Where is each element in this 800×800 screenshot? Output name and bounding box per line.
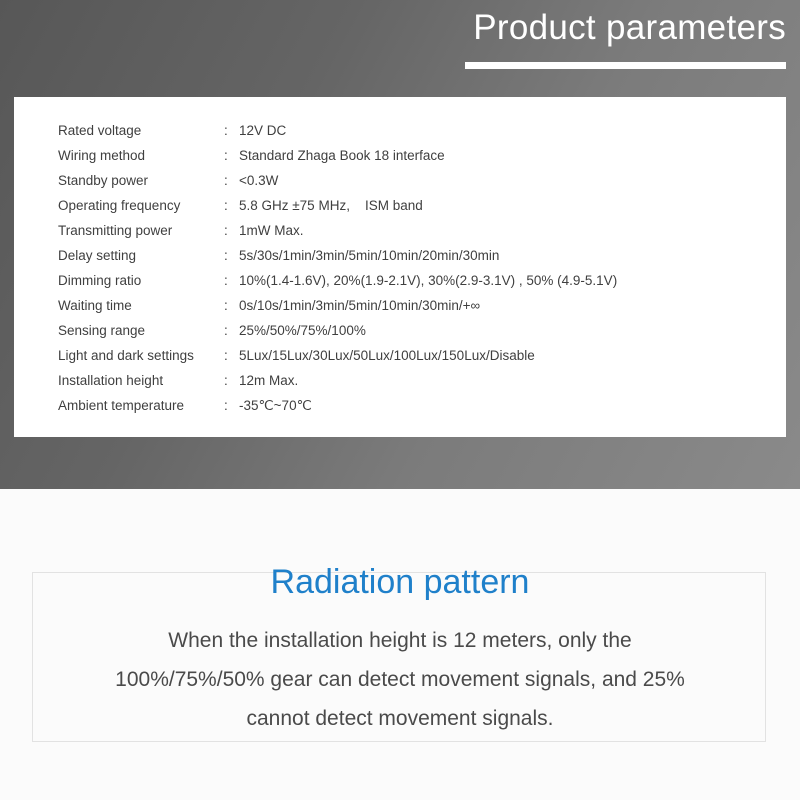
param-value: 5.8 GHz ±75 MHz, ISM band <box>238 193 617 218</box>
param-value: -35℃~70℃ <box>238 393 617 418</box>
page-title: Product parameters <box>473 6 786 50</box>
radiation-description-line: cannot detect movement signals. <box>60 699 740 738</box>
param-value: 10%(1.4-1.6V), 20%(1.9-2.1V), 30%(2.9-3.… <box>238 268 617 293</box>
param-label: Wiring method <box>58 143 224 168</box>
table-row: Rated voltage : 12V DC <box>58 118 617 143</box>
param-separator: : <box>224 268 238 293</box>
table-row: Wiring method : Standard Zhaga Book 18 i… <box>58 143 617 168</box>
table-row: Operating frequency : 5.8 GHz ±75 MHz, I… <box>58 193 617 218</box>
param-separator: : <box>224 318 238 343</box>
table-row: Transmitting power : 1mW Max. <box>58 218 617 243</box>
param-separator: : <box>224 293 238 318</box>
param-label: Dimming ratio <box>58 268 224 293</box>
product-parameters-section: Product parameters Rated voltage : 12V D… <box>0 0 800 489</box>
section-header-band: Product parameters <box>0 0 800 97</box>
param-value: 12m Max. <box>238 368 617 393</box>
parameters-table: Rated voltage : 12V DC Wiring method : S… <box>58 118 617 418</box>
param-separator: : <box>224 118 238 143</box>
table-row: Ambient temperature : -35℃~70℃ <box>58 393 617 418</box>
param-separator: : <box>224 193 238 218</box>
param-value: 5Lux/15Lux/30Lux/50Lux/100Lux/150Lux/Dis… <box>238 343 617 368</box>
param-label: Delay setting <box>58 243 224 268</box>
param-value: 12V DC <box>238 118 617 143</box>
param-label: Transmitting power <box>58 218 224 243</box>
param-separator: : <box>224 343 238 368</box>
param-separator: : <box>224 168 238 193</box>
param-label: Ambient temperature <box>58 393 224 418</box>
table-row: Delay setting : 5s/30s/1min/3min/5min/10… <box>58 243 617 268</box>
table-row: Waiting time : 0s/10s/1min/3min/5min/10m… <box>58 293 617 318</box>
product-parameters-page: Product parameters Rated voltage : 12V D… <box>0 0 800 800</box>
table-row: Dimming ratio : 10%(1.4-1.6V), 20%(1.9-2… <box>58 268 617 293</box>
radiation-description: When the installation height is 12 meter… <box>60 621 740 738</box>
radiation-title: Radiation pattern <box>0 561 800 603</box>
param-value: Standard Zhaga Book 18 interface <box>238 143 617 168</box>
table-row: Light and dark settings : 5Lux/15Lux/30L… <box>58 343 617 368</box>
param-separator: : <box>224 393 238 418</box>
table-row: Installation height : 12m Max. <box>58 368 617 393</box>
radiation-pattern-section: Radiation pattern When the installation … <box>0 489 800 800</box>
param-separator: : <box>224 218 238 243</box>
param-value: 5s/30s/1min/3min/5min/10min/20min/30min <box>238 243 617 268</box>
parameters-panel: Rated voltage : 12V DC Wiring method : S… <box>14 97 786 437</box>
param-value: <0.3W <box>238 168 617 193</box>
param-value: 25%/50%/75%/100% <box>238 318 617 343</box>
param-separator: : <box>224 368 238 393</box>
param-label: Light and dark settings <box>58 343 224 368</box>
param-separator: : <box>224 143 238 168</box>
param-label: Operating frequency <box>58 193 224 218</box>
param-label: Waiting time <box>58 293 224 318</box>
param-value: 0s/10s/1min/3min/5min/10min/30min/+∞ <box>238 293 617 318</box>
param-label: Installation height <box>58 368 224 393</box>
param-value: 1mW Max. <box>238 218 617 243</box>
param-separator: : <box>224 243 238 268</box>
table-row: Standby power : <0.3W <box>58 168 617 193</box>
param-label: Sensing range <box>58 318 224 343</box>
radiation-description-line: 100%/75%/50% gear can detect movement si… <box>60 660 740 699</box>
table-row: Sensing range : 25%/50%/75%/100% <box>58 318 617 343</box>
title-underline-rule <box>465 62 786 69</box>
param-label: Standby power <box>58 168 224 193</box>
param-label: Rated voltage <box>58 118 224 143</box>
radiation-description-line: When the installation height is 12 meter… <box>60 621 740 660</box>
